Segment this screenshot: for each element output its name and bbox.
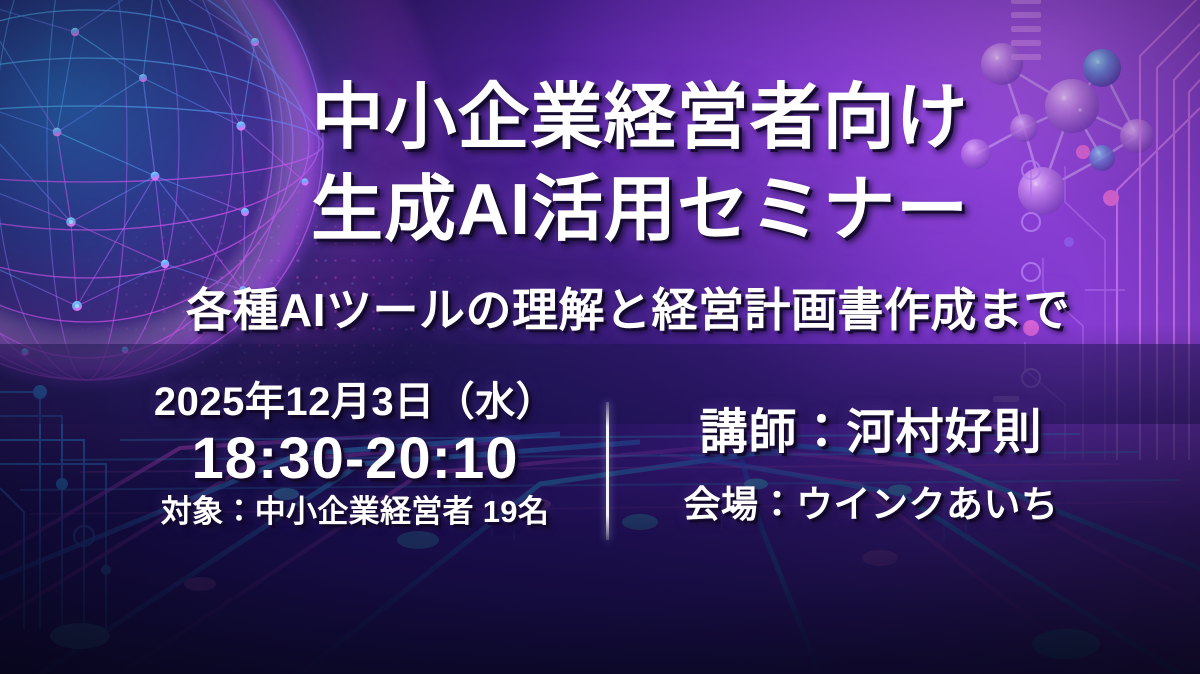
vertical-divider bbox=[606, 402, 609, 540]
schedule-block: 2025年12月3日（水） 18:30-20:10 対象：中小企業経営者 19名 bbox=[120, 378, 590, 532]
event-speaker: 講師：河村好則 bbox=[636, 402, 1106, 464]
banner-content: 中小企業経営者向け 生成AI活用セミナー 各種AIツールの理解と経営計画書作成ま… bbox=[0, 0, 1200, 674]
title-block: 中小企業経営者向け 生成AI活用セミナー bbox=[0, 72, 1200, 256]
event-time: 18:30-20:10 bbox=[120, 426, 590, 492]
event-venue: 会場：ウインクあいち bbox=[636, 478, 1106, 532]
details-block: 講師：河村好則 会場：ウインクあいち bbox=[636, 402, 1106, 532]
title-line-2: 生成AI活用セミナー bbox=[80, 164, 1200, 256]
subtitle: 各種AIツールの理解と経営計画書作成まで bbox=[0, 282, 1200, 338]
info-row: 2025年12月3日（水） 18:30-20:10 対象：中小企業経営者 19名… bbox=[0, 378, 1200, 553]
event-audience: 対象：中小企業経営者 19名 bbox=[120, 492, 590, 532]
title-line-1: 中小企業経営者向け bbox=[80, 72, 1200, 164]
event-date: 2025年12月3日（水） bbox=[120, 378, 590, 426]
seminar-banner: 中小企業経営者向け 生成AI活用セミナー 各種AIツールの理解と経営計画書作成ま… bbox=[0, 0, 1200, 674]
